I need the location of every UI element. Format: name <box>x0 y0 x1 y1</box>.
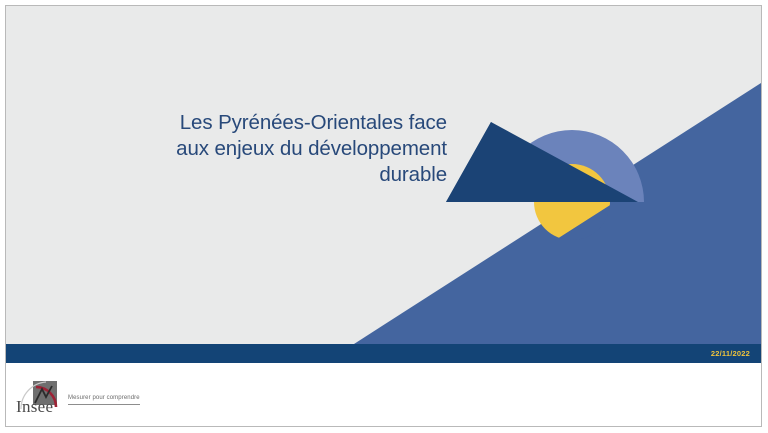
navy-band <box>6 344 761 363</box>
presentation-slide: 22/11/2022 Les Pyrénées-Orientales face … <box>0 0 768 433</box>
insee-wordmark: Insee <box>16 397 68 416</box>
insee-tagline: Mesurer pour comprendre <box>68 394 140 405</box>
slide-frame: 22/11/2022 Les Pyrénées-Orientales face … <box>5 5 762 427</box>
slide-date: 22/11/2022 <box>711 347 750 360</box>
page-title: Les Pyrénées-Orientales face aux enjeux … <box>66 110 447 188</box>
slide-footer: Insee Mesurer pour comprendre <box>6 363 761 426</box>
sustainable-development-emblem <box>438 106 658 241</box>
